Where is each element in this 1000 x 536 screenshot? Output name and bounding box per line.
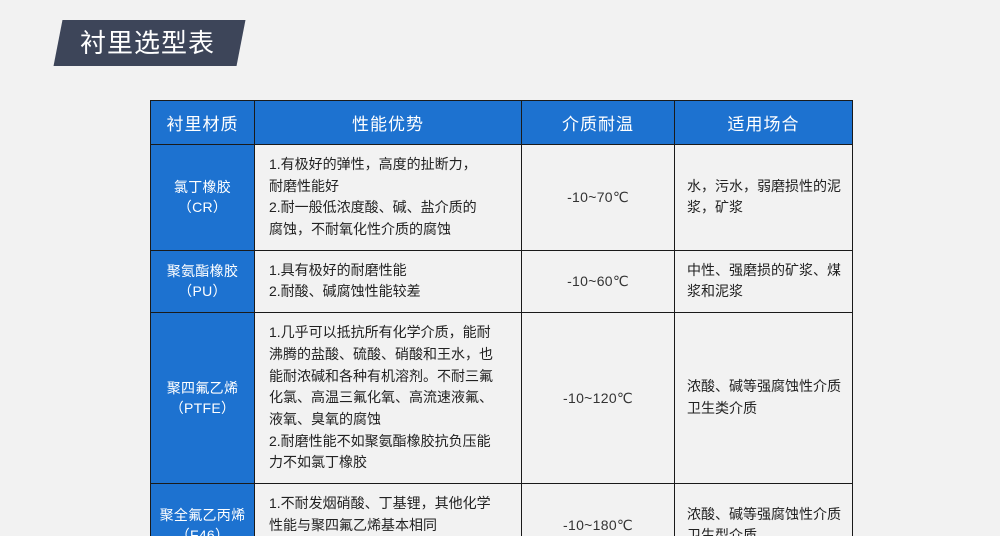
cell-usage: 浓酸、碱等强腐蚀性介质 卫生类介质	[675, 313, 853, 484]
cell-temperature: -10~120℃	[522, 313, 675, 484]
cell-material: 聚四氟乙烯 （PTFE）	[151, 313, 255, 484]
title-banner: 衬里选型表	[54, 20, 246, 66]
cell-performance: 1.几乎可以抵抗所有化学介质，能耐 沸腾的盐酸、硫酸、硝酸和王水，也 能耐浓碱和…	[255, 313, 522, 484]
cell-material: 聚氨酯橡胶 （PU）	[151, 250, 255, 312]
cell-performance: 1.不耐发烟硝酸、丁基锂，其他化学 性能与聚四氟乙烯基本相同 2.抗负压能力高于…	[255, 483, 522, 536]
table-header-row: 衬里材质 性能优势 介质耐温 适用场合	[151, 101, 853, 145]
table-row: 氯丁橡胶 （CR） 1.有极好的弹性，高度的扯断力， 耐磨性能好 2.耐一般低浓…	[151, 145, 853, 251]
table-body: 氯丁橡胶 （CR） 1.有极好的弹性，高度的扯断力， 耐磨性能好 2.耐一般低浓…	[151, 145, 853, 536]
cell-temperature: -10~60℃	[522, 250, 675, 312]
cell-performance: 1.具有极好的耐磨性能 2.耐酸、碱腐蚀性能较差	[255, 250, 522, 312]
page-title: 衬里选型表	[80, 30, 215, 56]
cell-material: 聚全氟乙丙烯 （F46）	[151, 483, 255, 536]
cell-usage: 浓酸、碱等强腐蚀性介质 卫生型介质	[675, 483, 853, 536]
cell-performance: 1.有极好的弹性，高度的扯断力， 耐磨性能好 2.耐一般低浓度酸、碱、盐介质的 …	[255, 145, 522, 251]
cell-material: 氯丁橡胶 （CR）	[151, 145, 255, 251]
table-row: 聚氨酯橡胶 （PU） 1.具有极好的耐磨性能 2.耐酸、碱腐蚀性能较差 -10~…	[151, 250, 853, 312]
lining-selection-table: 衬里材质 性能优势 介质耐温 适用场合 氯丁橡胶 （CR） 1.有极好的弹性，高…	[150, 100, 853, 536]
cell-temperature: -10~180℃	[522, 483, 675, 536]
page-root: 衬里选型表 衬里材质 性能优势 介质耐温 适用场合 氯丁橡胶 （CR）	[0, 0, 1000, 536]
table-header: 衬里材质 性能优势 介质耐温 适用场合	[151, 101, 853, 145]
lining-selection-table-wrapper: 衬里材质 性能优势 介质耐温 适用场合 氯丁橡胶 （CR） 1.有极好的弹性，高…	[150, 100, 852, 536]
cell-usage: 中性、强磨损的矿浆、煤 浆和泥浆	[675, 250, 853, 312]
column-header-usage: 适用场合	[675, 101, 853, 145]
column-header-material: 衬里材质	[151, 101, 255, 145]
column-header-performance: 性能优势	[255, 101, 522, 145]
column-header-temperature: 介质耐温	[522, 101, 675, 145]
cell-temperature: -10~70℃	[522, 145, 675, 251]
table-row: 聚全氟乙丙烯 （F46） 1.不耐发烟硝酸、丁基锂，其他化学 性能与聚四氟乙烯基…	[151, 483, 853, 536]
table-row: 聚四氟乙烯 （PTFE） 1.几乎可以抵抗所有化学介质，能耐 沸腾的盐酸、硫酸、…	[151, 313, 853, 484]
cell-usage: 水，污水，弱磨损性的泥 浆，矿浆	[675, 145, 853, 251]
